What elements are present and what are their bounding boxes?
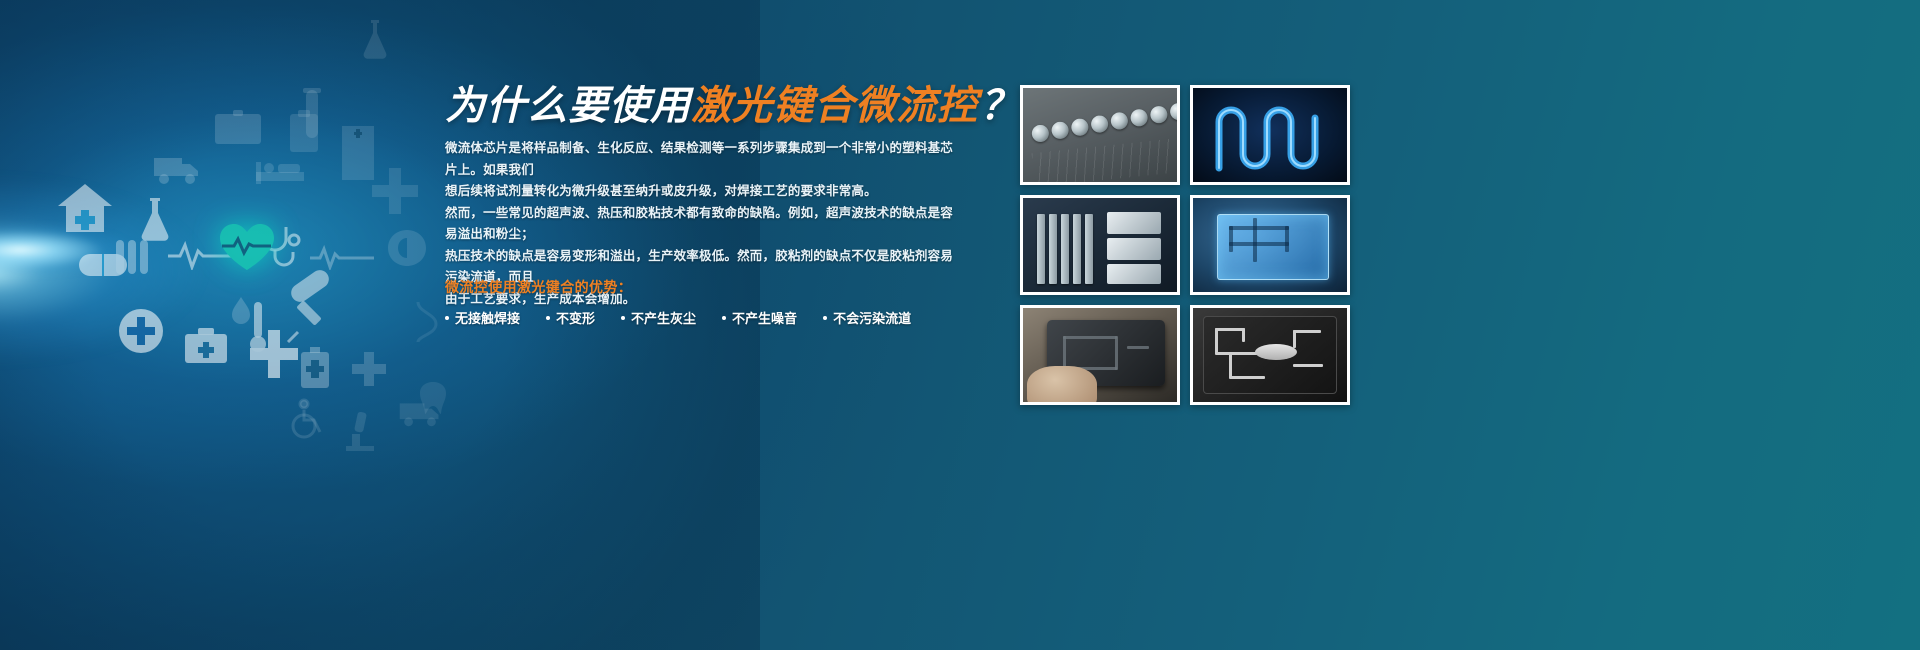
product-photo-gallery (1020, 85, 1350, 405)
page-title: 为什么要使用激光键合微流控？ (445, 86, 1021, 126)
advantage-label: 不产生噪音 (732, 308, 797, 327)
wheelchair-icon (286, 398, 328, 440)
kidney-icon (386, 228, 428, 268)
advantage-label: 无接触焊接 (455, 308, 520, 327)
list-item: 不会污染流道 (823, 308, 911, 327)
battery-icon (300, 346, 330, 390)
gallery-thumbnail[interactable] (1190, 305, 1350, 405)
id-card-icon (215, 110, 261, 146)
transparent-blue-manifold-photo (1193, 198, 1347, 292)
bullet-dot-icon (546, 316, 550, 320)
advantages-list: 无接触焊接 不变形 不产生灰尘 不产生噪音 不会污染流道 (445, 308, 937, 327)
gallery-thumbnail[interactable] (1190, 85, 1350, 185)
banner-text-column: 为什么要使用激光键合微流控？ 微流体芯片是将样品制备、生化反应、结果检测等一系列… (445, 0, 990, 650)
clipboard-icon (288, 110, 320, 154)
title-lead: 为什么要使用 (445, 84, 691, 128)
title-highlight: 激光键合微流控 (691, 84, 978, 128)
microscope-icon (340, 410, 380, 452)
bullet-dot-icon (621, 316, 625, 320)
advantage-label: 不会污染流道 (833, 308, 911, 327)
hospital-bed-icon (256, 158, 304, 188)
first-aid-kit-icon (184, 326, 228, 364)
plus-cross-icon (250, 330, 298, 378)
paragraph-line: 微流体芯片是将样品制备、生化反应、结果检测等一系列步骤集成到一个非常小的塑料基芯… (445, 138, 965, 181)
microfluidic-strips-photo (1023, 198, 1177, 292)
flask-icon (358, 18, 392, 62)
gallery-thumbnail[interactable] (1020, 85, 1180, 185)
bullet-dot-icon (445, 316, 449, 320)
house-medical-icon (56, 182, 114, 234)
advantage-label: 不变形 (556, 308, 595, 327)
ambulance-icon (152, 152, 202, 186)
gallery-thumbnail[interactable] (1190, 195, 1350, 295)
plus-cross-icon (372, 168, 418, 214)
hospital-building-icon (340, 118, 376, 180)
advantages-subheading: 微流控使用激光键合的优势： (445, 277, 632, 297)
test-tube-icon (112, 236, 152, 282)
heart-pulse-icon (218, 222, 276, 272)
plus-cross-icon (118, 308, 164, 354)
black-chip-channel-network-photo (1193, 308, 1347, 402)
bullet-dot-icon (722, 316, 726, 320)
microfluidic-chip-wells-photo (1023, 88, 1177, 182)
list-item: 不变形 (546, 308, 595, 327)
blood-drop-icon (230, 296, 252, 326)
black-chip-in-hand-photo (1023, 308, 1177, 402)
dna-icon (412, 300, 442, 344)
list-item: 不产生灰尘 (621, 308, 696, 327)
bullet-dot-icon (823, 316, 827, 320)
advantage-label: 不产生灰尘 (631, 308, 696, 327)
serpentine-channel-chip-photo (1193, 88, 1347, 182)
gallery-thumbnail[interactable] (1020, 305, 1180, 405)
plus-cross-icon (352, 352, 386, 386)
list-item: 不产生噪音 (722, 308, 797, 327)
promo-banner: 为什么要使用激光键合微流控？ 微流体芯片是将样品制备、生化反应、结果检测等一系列… (0, 0, 1920, 650)
list-item: 无接触焊接 (445, 308, 520, 327)
paragraph-line: 然而，一些常见的超声波、热压和胶粘技术都有致命的缺陷。例如，超声波技术的缺点是容… (445, 203, 965, 246)
paragraph-line: 想后续将试剂量转化为微升级甚至纳升或皮升级，对焊接工艺的要求非常高。 (445, 181, 965, 203)
ambulance-icon (398, 398, 442, 428)
title-question-mark: ？ (980, 84, 1021, 128)
gallery-thumbnail[interactable] (1020, 195, 1180, 295)
